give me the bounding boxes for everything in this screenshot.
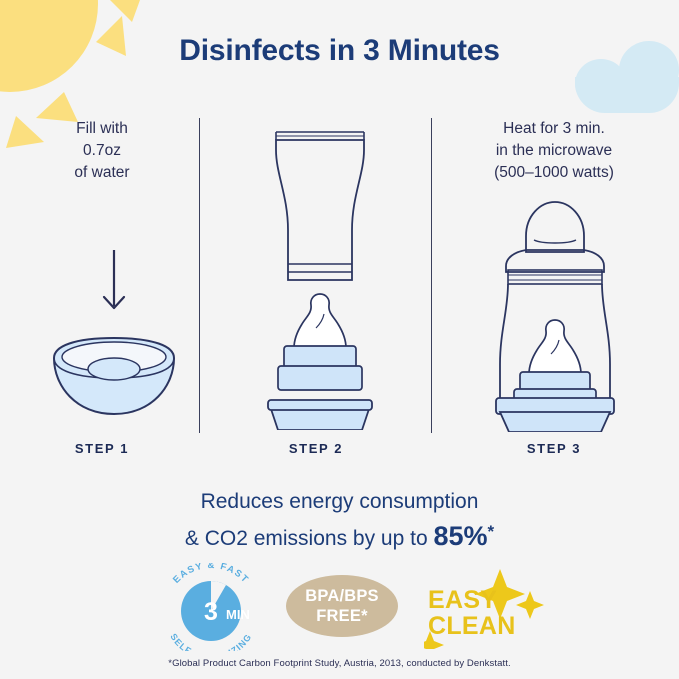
step-3-caption-line-3: (500–1000 watts) bbox=[440, 162, 668, 184]
column-divider-1 bbox=[199, 118, 200, 433]
bottle-body-icon bbox=[276, 132, 364, 280]
three-minute-number: 3 bbox=[204, 598, 218, 626]
page-title: Disinfects in 3 Minutes bbox=[0, 34, 679, 68]
step-1-caption-line-1: Fill with bbox=[12, 118, 192, 140]
outer-base-icon bbox=[496, 398, 614, 432]
water-bowl-illustration bbox=[36, 250, 192, 430]
bpa-line-2: FREE* bbox=[316, 606, 367, 626]
eco-claim-percent: 85% bbox=[433, 521, 487, 551]
bpa-oval: BPA/BPS FREE* bbox=[286, 575, 398, 637]
down-arrow-icon bbox=[104, 250, 124, 308]
infographic-root: Disinfects in 3 Minutes Fill with 0.7oz … bbox=[0, 0, 679, 679]
eco-claim-prefix: & CO2 emissions by up to bbox=[185, 527, 434, 550]
eco-claim-line-1: Reduces energy consumption bbox=[0, 487, 679, 517]
collar-ring-icon bbox=[278, 346, 362, 390]
eco-claim: Reduces energy consumption & CO2 emissio… bbox=[0, 487, 679, 554]
three-minute-badge: 3 MIN EASY & FAST SELF STERILIZING bbox=[152, 563, 270, 651]
step-1-caption-line-2: 0.7oz bbox=[12, 140, 192, 162]
step-1-caption-line-3: of water bbox=[12, 162, 192, 184]
assembled-bottle-illustration bbox=[470, 192, 640, 432]
bowl-icon bbox=[54, 338, 174, 414]
step-3-label: STEP 3 bbox=[440, 441, 668, 456]
column-divider-2 bbox=[431, 118, 432, 433]
step-3-column: Heat for 3 min. in the microwave (500–10… bbox=[440, 118, 668, 184]
easy-clean-text: EASY CLEAN bbox=[428, 587, 516, 639]
bpa-line-1: BPA/BPS bbox=[305, 586, 379, 606]
easy-clean-line-1: EASY bbox=[428, 587, 516, 613]
bpa-bps-free-badge: BPA/BPS FREE* bbox=[286, 575, 398, 637]
bottle-parts-illustration bbox=[240, 112, 400, 430]
footnote: *Global Product Carbon Footprint Study, … bbox=[0, 658, 679, 669]
eco-claim-asterisk: * bbox=[488, 522, 495, 541]
step-3-caption: Heat for 3 min. in the microwave (500–10… bbox=[440, 118, 668, 184]
inner-teat-icon bbox=[529, 320, 581, 374]
step-1-column: Fill with 0.7oz of water bbox=[12, 118, 192, 184]
three-minute-unit: MIN bbox=[226, 607, 250, 622]
step-3-caption-line-2: in the microwave bbox=[440, 140, 668, 162]
step-3-caption-line-1: Heat for 3 min. bbox=[440, 118, 668, 140]
step-1-caption: Fill with 0.7oz of water bbox=[12, 118, 192, 184]
step-1-label: STEP 1 bbox=[12, 441, 192, 456]
step-2-label: STEP 2 bbox=[206, 441, 426, 456]
easy-clean-line-2: CLEAN bbox=[428, 613, 516, 639]
teat-icon bbox=[294, 294, 346, 348]
badge-row: 3 MIN EASY & FAST SELF STERILIZING BPA/B… bbox=[0, 563, 679, 648]
eco-claim-line-2: & CO2 emissions by up to 85%* bbox=[0, 517, 679, 554]
bottle-base-icon bbox=[268, 400, 372, 430]
easy-clean-badge: EASY CLEAN bbox=[424, 565, 544, 649]
